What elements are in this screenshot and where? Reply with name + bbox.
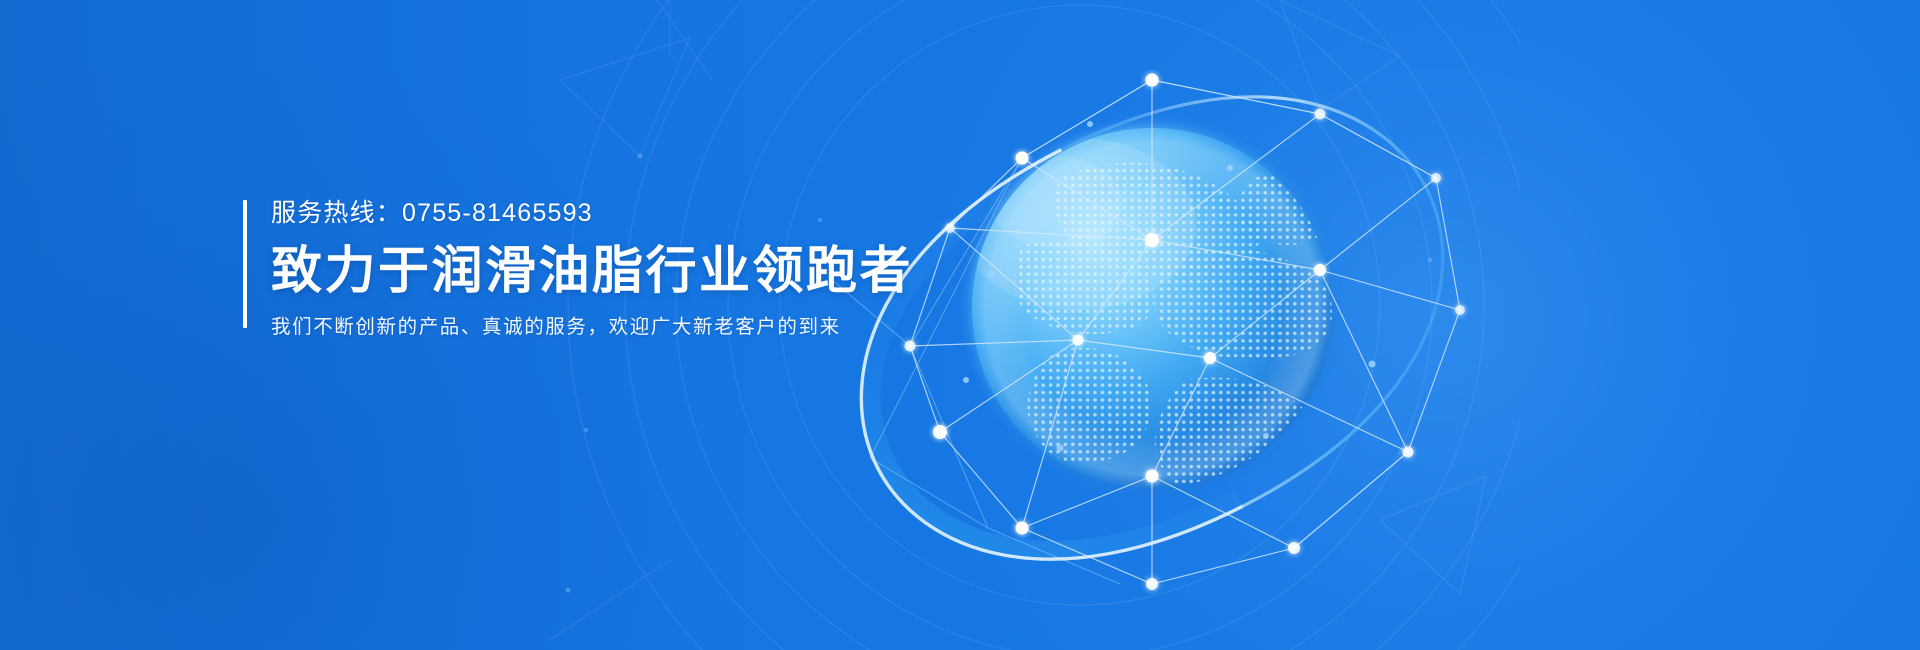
hero-text-block: 服务热线：0755-81465593 致力于润滑油脂行业领跑者 我们不断创新的产… bbox=[243, 196, 913, 342]
page-subtitle: 我们不断创新的产品、真诚的服务，欢迎广大新老客户的到来 bbox=[271, 312, 913, 342]
vertical-accent-bar bbox=[243, 200, 247, 328]
background-glow-right bbox=[790, 0, 1920, 650]
page-title: 致力于润滑油脂行业领跑者 bbox=[271, 238, 913, 304]
network-nodes-small bbox=[963, 121, 1376, 452]
network-edges-back bbox=[830, 80, 1436, 584]
service-hotline-text: 服务热线：0755-81465593 bbox=[271, 196, 913, 230]
orbit-ring-back bbox=[1061, 28, 1500, 506]
background-glow-left bbox=[0, 70, 740, 650]
globe-highlight bbox=[960, 138, 1196, 310]
globe-sphere bbox=[972, 128, 1332, 488]
hero-banner: 服务热线：0755-81465593 致力于润滑油脂行业领跑者 我们不断创新的产… bbox=[0, 0, 1920, 650]
network-nodes bbox=[905, 74, 1466, 591]
network-edges-front bbox=[910, 80, 1460, 584]
globe-continents bbox=[1014, 163, 1335, 508]
